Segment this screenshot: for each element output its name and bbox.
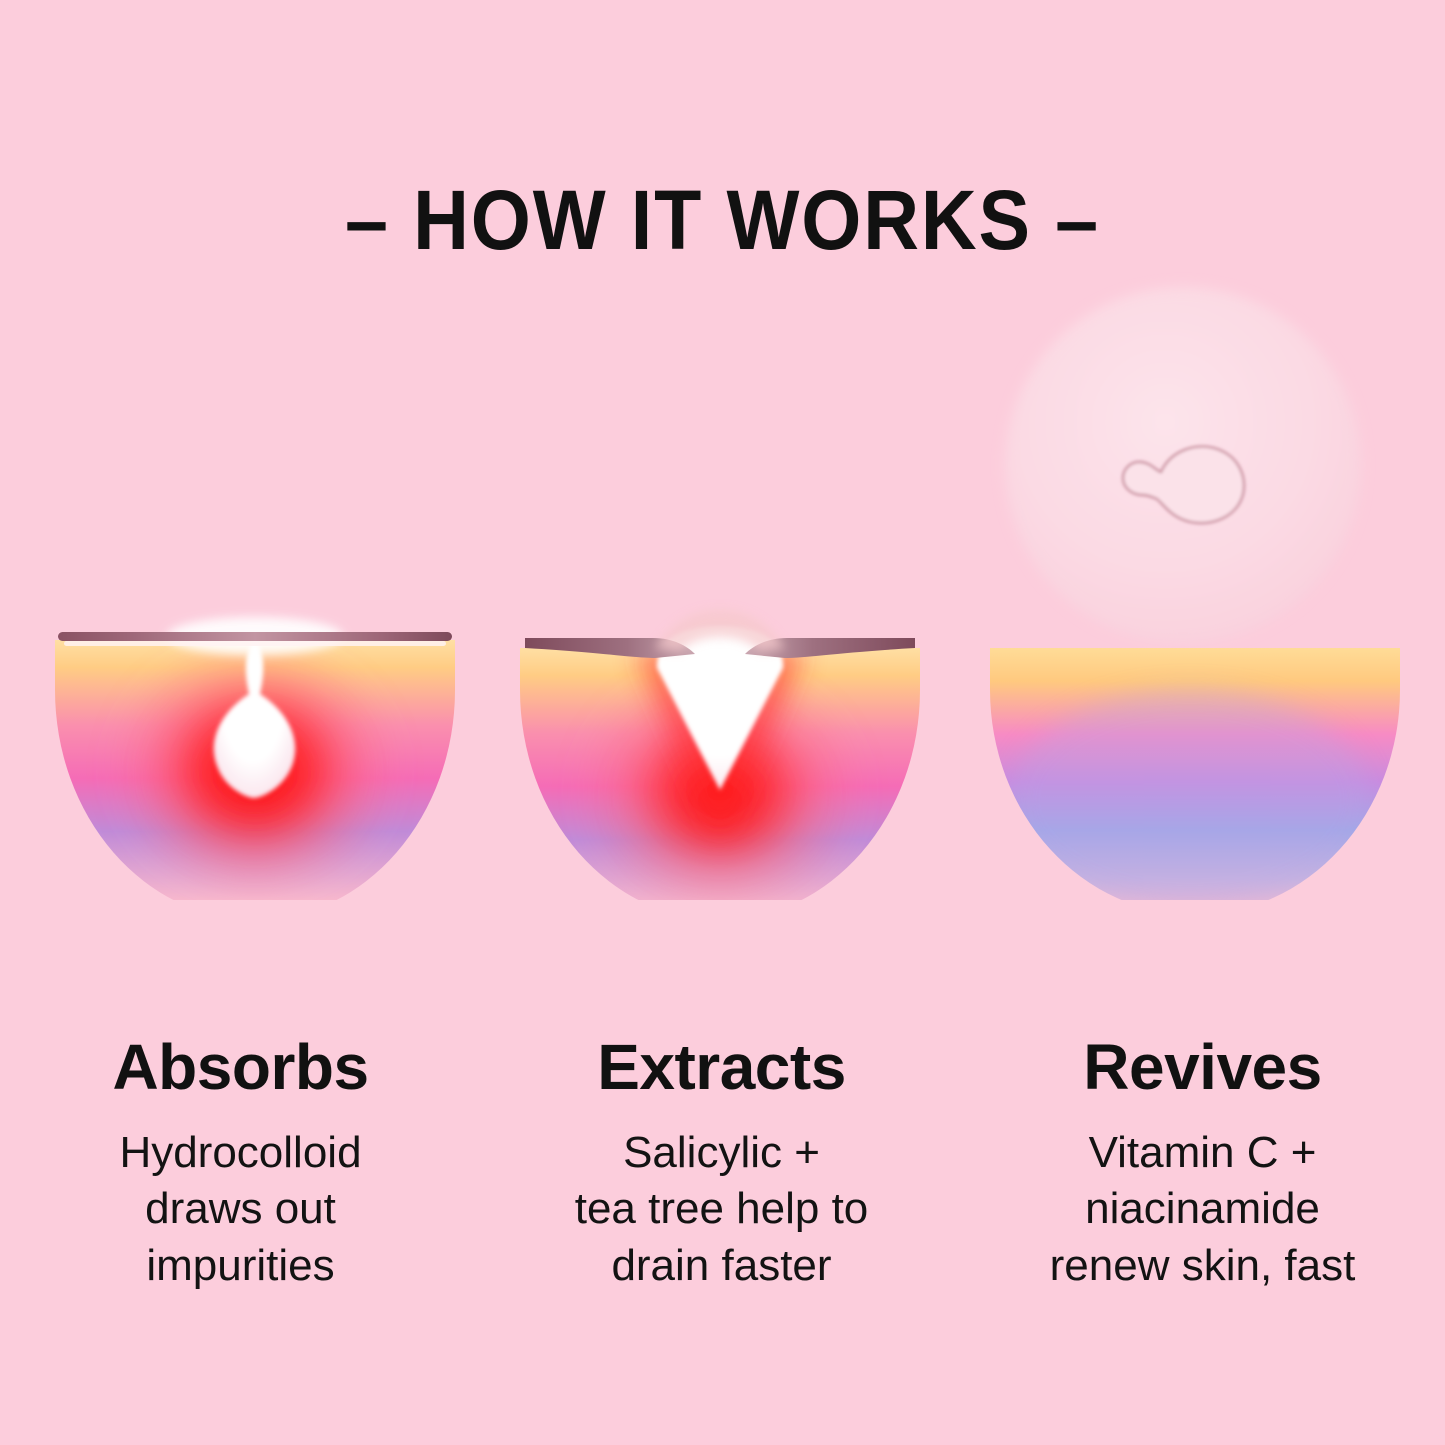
illustration-step-2 <box>505 0 935 900</box>
step-1-body-line-1: Hydrocolloid <box>10 1125 471 1181</box>
step-1-body-line-3: impurities <box>10 1238 471 1294</box>
skin-surface-line <box>58 632 452 641</box>
step-1: Absorbs Hydrocolloid draws out impuritie… <box>0 1035 481 1294</box>
step-2-body-line-1: Salicylic + <box>491 1125 952 1181</box>
step-3-body-line-3: renew skin, fast <box>972 1238 1433 1294</box>
illustration-step-1 <box>40 0 470 900</box>
steps-timeline: 1 2 3 <box>0 925 1445 1035</box>
skin-cross-section-pimple-icon <box>40 0 470 900</box>
step-3-heading: Revives <box>972 1035 1433 1099</box>
step-3-body-line-2: niacinamide <box>972 1181 1433 1237</box>
step-3-body-line-1: Vitamin C + <box>972 1125 1433 1181</box>
step-2-body-line-3: drain faster <box>491 1238 952 1294</box>
lifted-patch-healed-skin-icon <box>965 0 1415 900</box>
skin-cross-section-extract-icon <box>505 0 935 900</box>
step-2-heading: Extracts <box>491 1035 952 1099</box>
step-3-body: Vitamin C + niacinamide renew skin, fast <box>972 1125 1433 1294</box>
step-1-body-line-2: draws out <box>10 1181 471 1237</box>
step-1-heading: Absorbs <box>10 1035 471 1099</box>
step-1-body: Hydrocolloid draws out impurities <box>10 1125 471 1294</box>
step-2-body-line-2: tea tree help to <box>491 1181 952 1237</box>
step-3: Revives Vitamin C + niacinamide renew sk… <box>962 1035 1443 1294</box>
illustration-step-3 <box>965 0 1415 900</box>
step-2-body: Salicylic + tea tree help to drain faste… <box>491 1125 952 1294</box>
steps-text-row: Absorbs Hydrocolloid draws out impuritie… <box>0 1035 1445 1294</box>
infographic-root: – HOW IT WORKS – <box>0 0 1445 1445</box>
illustration-panels <box>0 0 1445 900</box>
step-2: Extracts Salicylic + tea tree help to dr… <box>481 1035 962 1294</box>
